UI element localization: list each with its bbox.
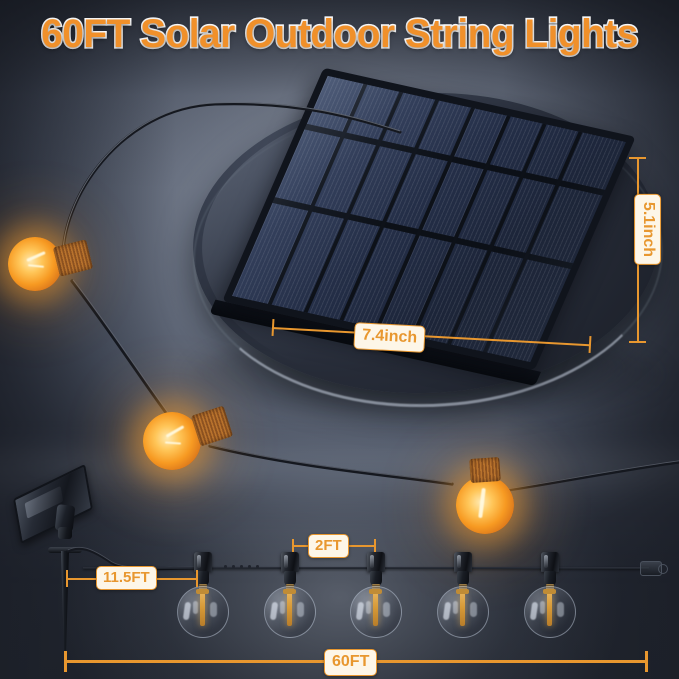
string-bulb	[350, 586, 402, 638]
string-ellipsis	[224, 565, 259, 568]
dimension-total-label: 60FT	[324, 649, 377, 676]
string-bulb	[437, 586, 489, 638]
dimension-spacing-label: 2FT	[308, 534, 349, 558]
dimension-lead-label: 11.5FT	[96, 566, 157, 590]
string-end-connector	[640, 561, 662, 576]
string-bulb	[264, 586, 316, 638]
product-image: 60FT Solar Outdoor String Lights	[0, 0, 679, 679]
string-bulb	[524, 586, 576, 638]
string-bulb	[177, 586, 229, 638]
